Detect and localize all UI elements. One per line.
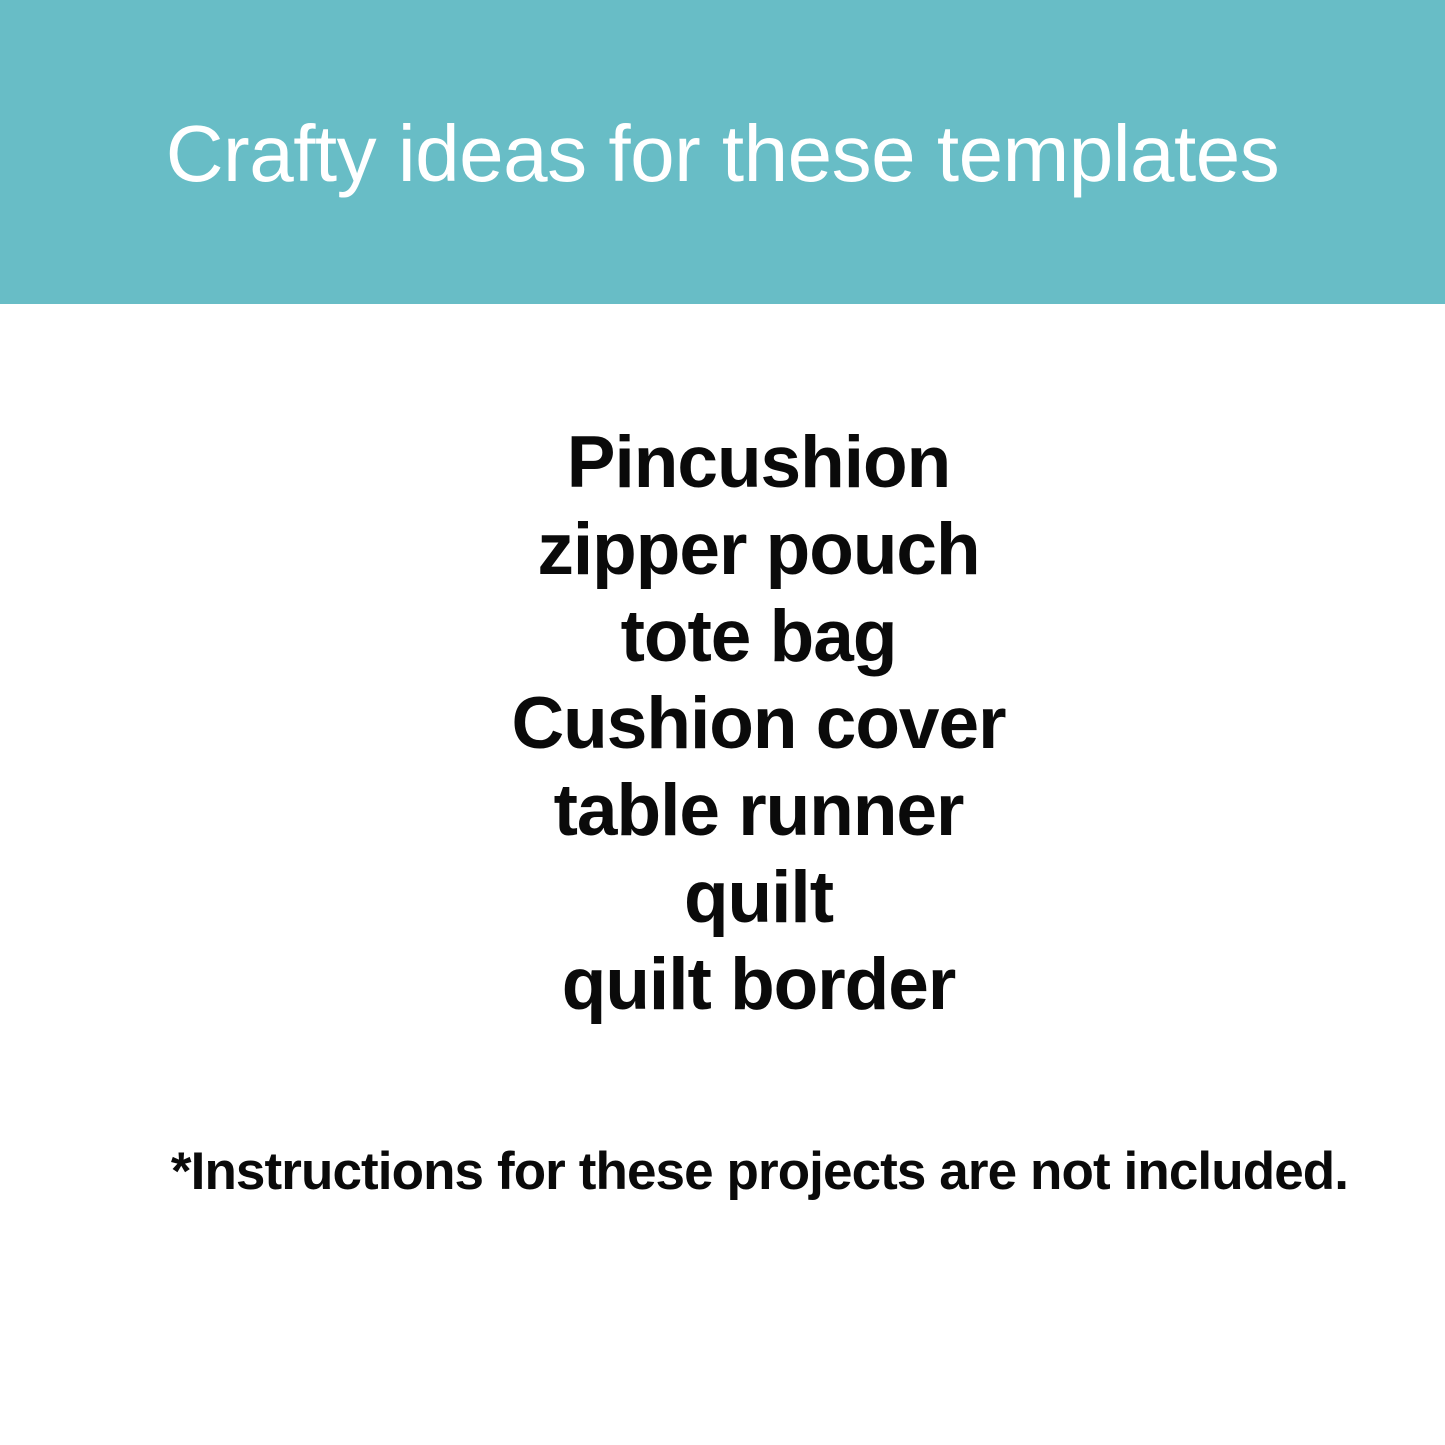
header-band: Crafty ideas for these templates (0, 0, 1445, 304)
list-item: quilt (0, 854, 1445, 941)
list-item: zipper pouch (0, 506, 1445, 593)
list-item: Cushion cover (0, 680, 1445, 767)
list-item: table runner (0, 767, 1445, 854)
main-content: Pincushion zipper pouch tote bag Cushion… (0, 304, 1445, 1445)
ideas-list: Pincushion zipper pouch tote bag Cushion… (0, 419, 1445, 1028)
poster-canvas: Crafty ideas for these templates Pincush… (0, 0, 1445, 1445)
footnote-disclaimer: *Instructions for these projects are not… (0, 1140, 1445, 1204)
list-item: Pincushion (0, 419, 1445, 506)
list-item: tote bag (0, 593, 1445, 680)
list-item: quilt border (0, 941, 1445, 1028)
page-title: Crafty ideas for these templates (126, 112, 1319, 196)
